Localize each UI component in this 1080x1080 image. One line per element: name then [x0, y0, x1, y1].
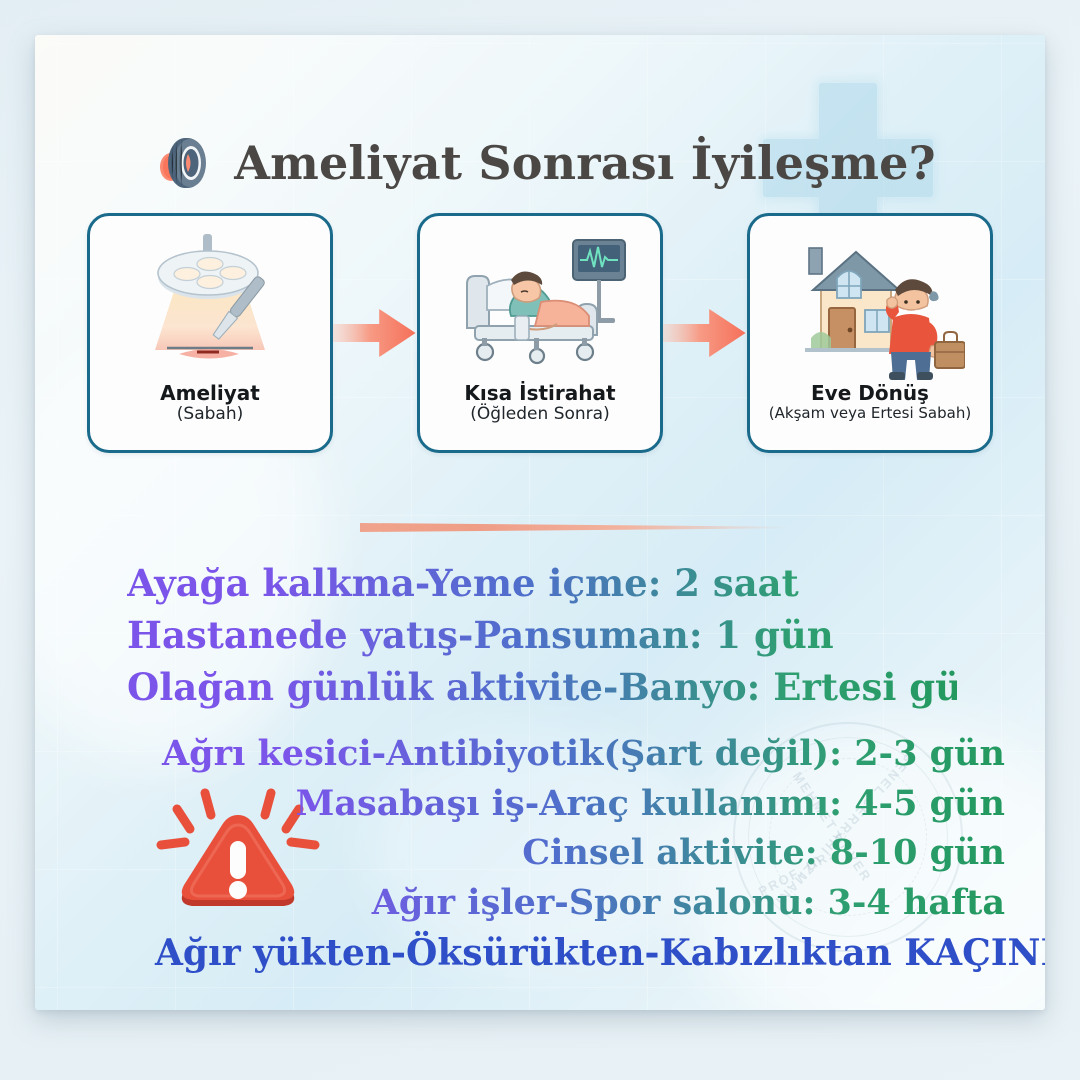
- step-sublabel: (Sabah): [177, 405, 243, 424]
- recovery-line: Hastanede yatış-Pansuman: 1 gün: [127, 609, 957, 661]
- recovery-line: Cinsel aktivite: 8-10 gün: [155, 828, 1005, 878]
- page-title: Ameliyat Sonrası İyileşme?: [234, 136, 936, 190]
- steps-row: Ameliyat (Sabah): [87, 213, 993, 453]
- header: Ameliyat Sonrası İyileşme?: [35, 127, 1045, 199]
- right-arrow-icon: [333, 305, 417, 361]
- right-arrow-icon: [663, 305, 747, 361]
- recovery-list-primary: Ayağa kalkma-Yeme içme: 2 saat Hastanede…: [127, 557, 957, 713]
- step-sublabel: (Akşam veya Ertesi Sabah): [769, 405, 971, 422]
- recovery-line: Ayağa kalkma-Yeme içme: 2 saat: [127, 557, 957, 609]
- step-sublabel: (Öğleden Sonra): [470, 405, 609, 424]
- infographic-root: PROF. DR. MEHMET ÜNVER GENEL CERRAHİ UZM…: [0, 0, 1080, 1080]
- recovery-list-secondary: Ağrı kesici-Antibiyotik(Şart değil): 2-3…: [155, 729, 1005, 979]
- recovery-line: Ağır işler-Spor salonu: 3-4 hafta: [155, 878, 1005, 928]
- step-card-ameliyat[interactable]: Ameliyat (Sabah): [87, 213, 333, 453]
- tire-ring-icon: [144, 127, 216, 199]
- main-card: PROF. DR. MEHMET ÜNVER GENEL CERRAHİ UZM…: [35, 35, 1045, 1010]
- step-label: Ameliyat: [160, 382, 260, 404]
- arrow-1: [333, 305, 417, 361]
- recovery-line: Ağrı kesici-Antibiyotik(Şart değil): 2-3…: [155, 729, 1005, 779]
- surgical-lamp-scalpel-icon: [115, 230, 305, 380]
- step-card-kisa-istirahat[interactable]: Kısa İstirahat (Öğleden Sonra): [417, 213, 663, 453]
- step-label: Eve Dönüş: [811, 382, 929, 404]
- arrow-2: [663, 305, 747, 361]
- step-card-eve-donus[interactable]: Eve Dönüş (Akşam veya Ertesi Sabah): [747, 213, 993, 453]
- recovery-line: Olağan günlük aktivite-Banyo: Ertesi gün: [127, 661, 957, 713]
- step-label: Kısa İstirahat: [464, 382, 615, 404]
- house-person-suitcase-icon: [775, 230, 965, 380]
- hospital-bed-patient-monitor-icon: [445, 230, 635, 380]
- recovery-line: Masabaşı iş-Araç kullanımı: 4-5 gün: [155, 779, 1005, 829]
- warning-line: Ağır yükten-Öksürükten-Kabızlıktan KAÇIN…: [155, 928, 1005, 979]
